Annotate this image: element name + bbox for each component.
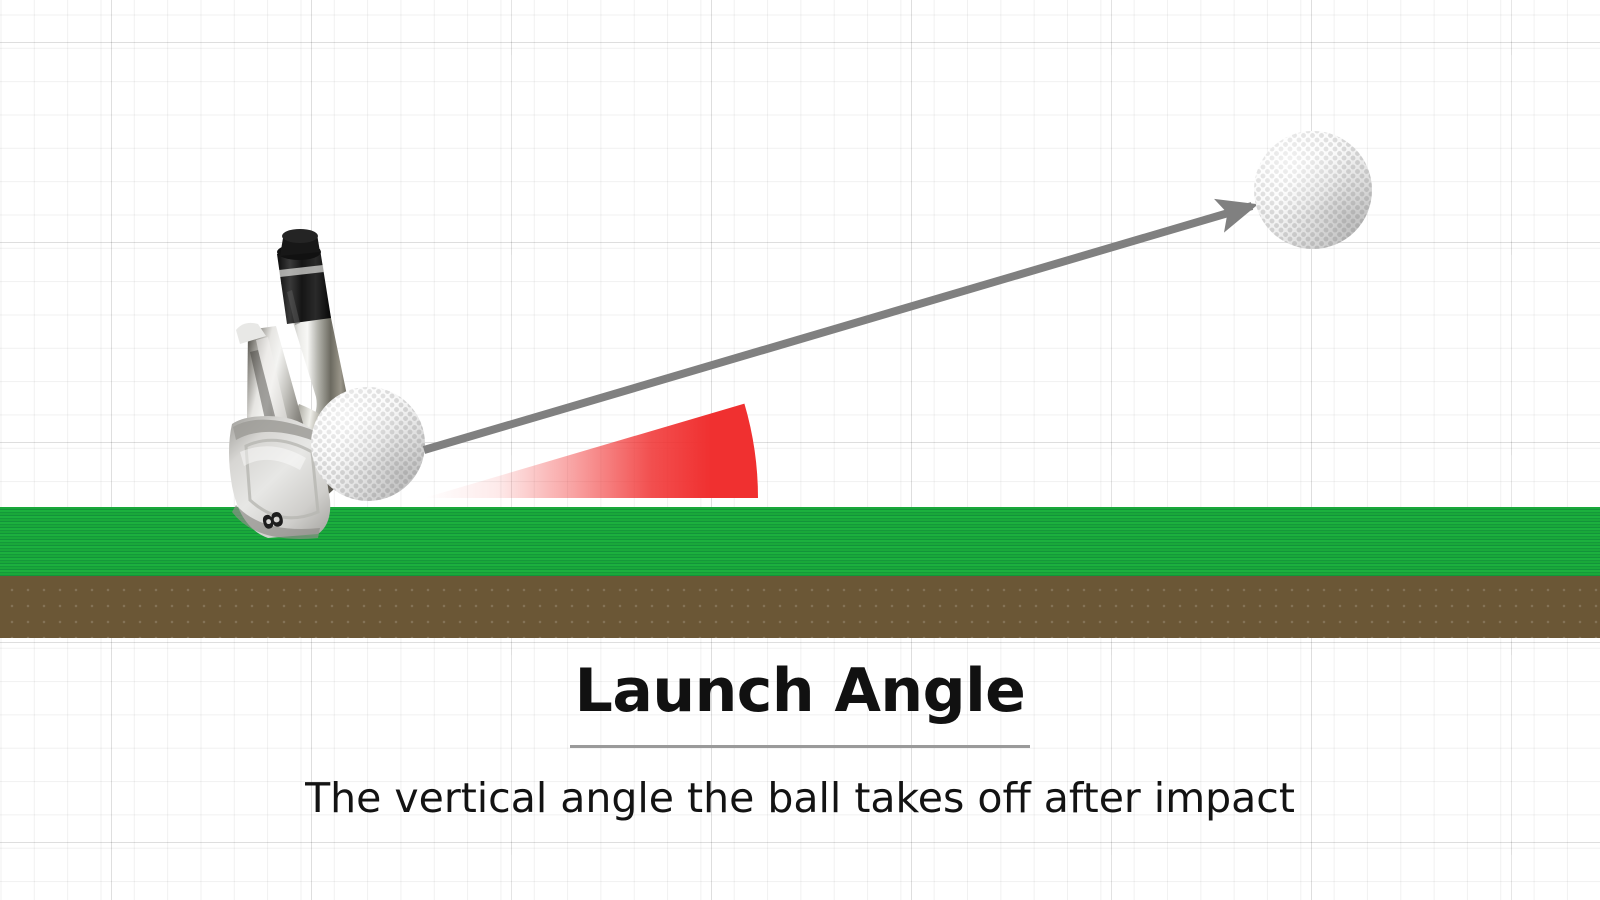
page-subtitle: The vertical angle the ball takes off af… [0,776,1600,821]
ball-shading-flight [1254,131,1372,249]
grass-layer [0,507,1600,576]
ball-shading-impact [311,387,425,501]
infographic-canvas: 8 Launch Angle The vertical angle the ba… [0,0,1600,900]
caption-block: Launch Angle The vertical angle the ball… [0,660,1600,821]
soil-layer [0,576,1600,638]
title-divider [570,745,1030,748]
page-title: Launch Angle [0,660,1600,723]
golf-ball-flight [1254,131,1372,249]
golf-ball-impact [311,387,425,501]
